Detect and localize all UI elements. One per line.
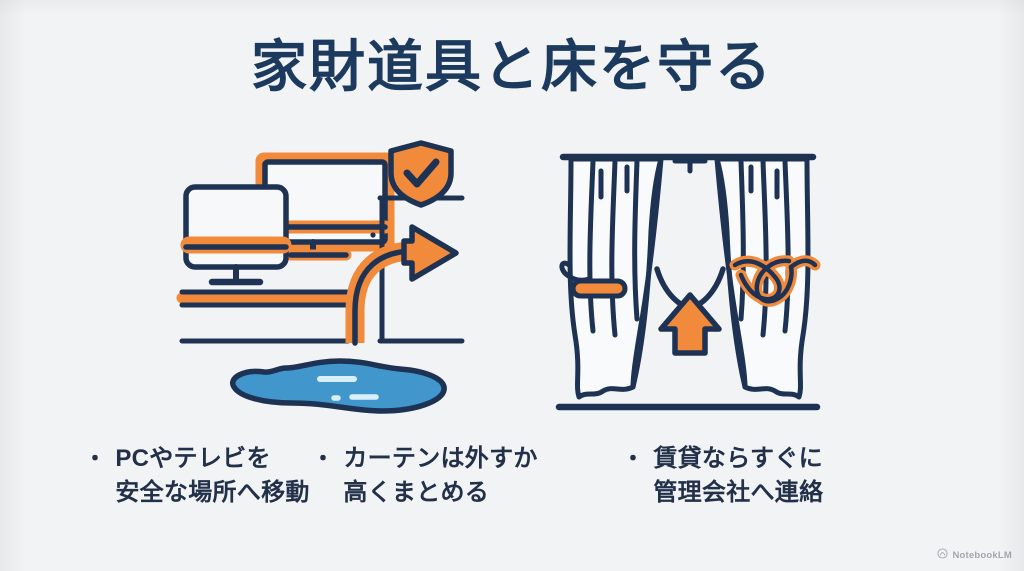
shield-check-icon	[391, 143, 451, 205]
figure-electronics-move-to-safety	[168, 135, 478, 422]
notebooklm-logo-icon	[937, 546, 948, 564]
bullet-marker-1: ・	[84, 443, 106, 474]
bullet-line: PCやテレビを	[115, 442, 309, 476]
up-arrow-icon	[657, 161, 723, 353]
water-puddle-icon	[233, 361, 444, 411]
bullet-text-1: PCやテレビを 安全な場所へ移動	[115, 442, 309, 510]
bullet-line: カーテンは外すか	[343, 442, 537, 476]
bullet-marker-2: ・	[312, 443, 334, 474]
figure-curtains-tied-up	[545, 135, 835, 422]
bullet-text-3: 賃貸ならすぐに 管理会社へ連絡	[653, 442, 823, 510]
bullet-item-3: ・ 賃貸ならすぐに 管理会社へ連絡	[612, 442, 942, 510]
slide-canvas: 家財道具と床を守る	[0, 0, 1024, 571]
watermark-label: NotebookLM	[952, 550, 1012, 561]
bullet-item-2: ・ カーテンは外すか 高くまとめる	[312, 442, 612, 510]
bullet-line: 賃貸ならすぐに	[653, 442, 823, 476]
bullet-marker-3: ・	[622, 443, 644, 474]
bullet-line: 管理会社へ連絡	[653, 476, 823, 510]
watermark: NotebookLM	[937, 546, 1012, 564]
bullet-list: ・ PCやテレビを 安全な場所へ移動 ・ カーテンは外すか 高くまとめる ・ 賃…	[0, 442, 1024, 542]
page-title: 家財道具と床を守る	[0, 38, 1024, 97]
bullet-item-1: ・ PCやテレビを 安全な場所へ移動	[0, 442, 312, 510]
bullet-line: 高くまとめる	[343, 476, 537, 510]
bullet-line: 安全な場所へ移動	[115, 476, 309, 510]
monitor-icon	[186, 187, 286, 282]
illustration-row	[0, 135, 1024, 420]
bullet-text-2: カーテンは外すか 高くまとめる	[343, 442, 537, 510]
